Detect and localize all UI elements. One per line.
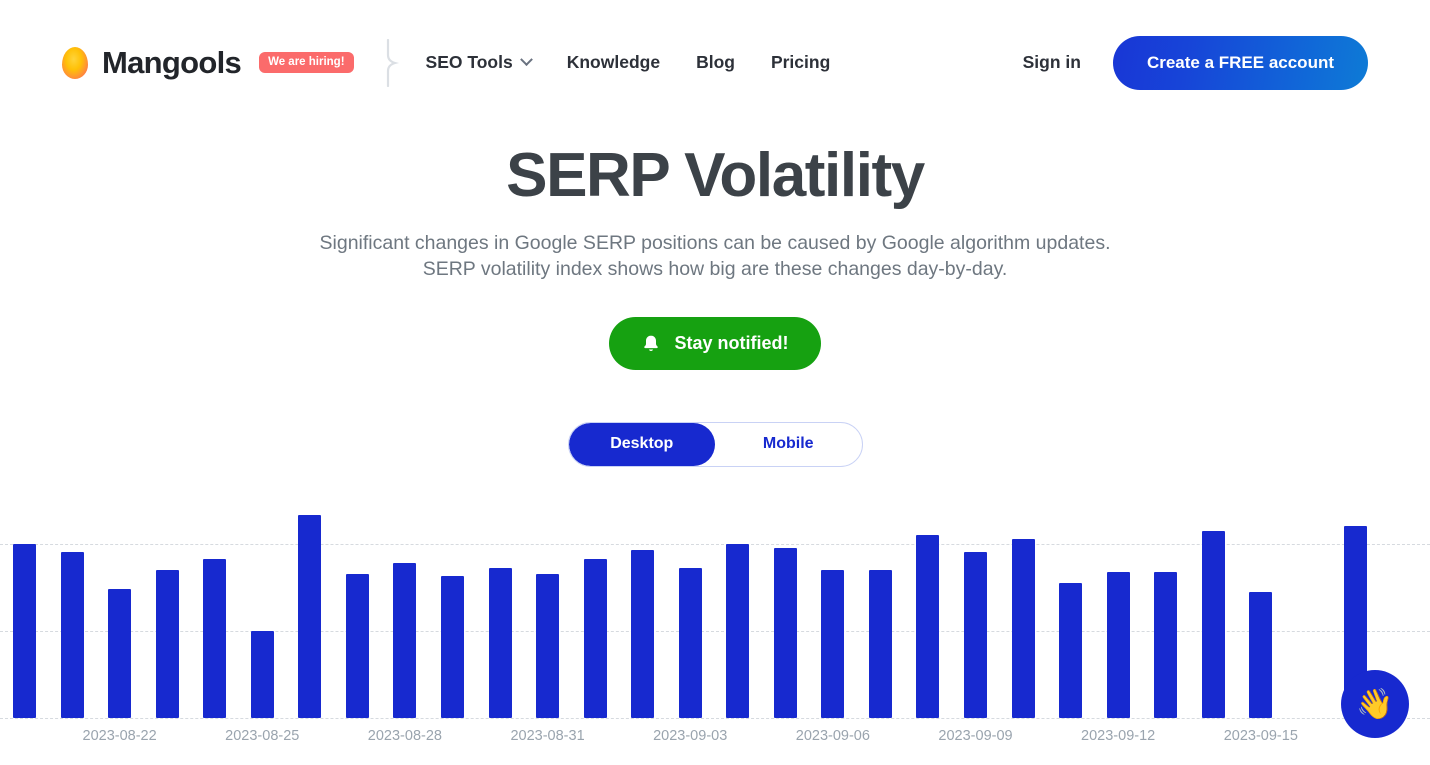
chart-x-tick-label: 2023-08-31 xyxy=(510,728,584,744)
chart-bar[interactable] xyxy=(298,515,321,718)
chart-bar[interactable] xyxy=(774,548,797,718)
header-actions: Sign in Create a FREE account xyxy=(1023,36,1368,90)
nav-label-blog: Blog xyxy=(696,52,735,73)
chart-bar[interactable] xyxy=(1202,531,1225,718)
serp-volatility-chart: 2023-08-222023-08-252023-08-282023-08-31… xyxy=(0,500,1430,765)
chart-bar[interactable] xyxy=(631,550,654,718)
nav-label-pricing: Pricing xyxy=(771,52,830,73)
chart-bar[interactable] xyxy=(251,631,274,718)
main-navigation: SEO Tools Knowledge Blog Pricing xyxy=(426,52,831,73)
chart-x-tick-label: 2023-09-06 xyxy=(796,728,870,744)
chart-bar[interactable] xyxy=(964,552,987,718)
hero-section: SERP Volatility Significant changes in G… xyxy=(0,143,1430,467)
chart-bar[interactable] xyxy=(441,576,464,718)
chart-x-tick-label: 2023-08-28 xyxy=(368,728,442,744)
chart-bar[interactable] xyxy=(108,589,131,718)
brand-logo[interactable]: Mangools We are hiring! xyxy=(62,45,354,81)
chart-x-tick-label: 2023-09-15 xyxy=(1224,728,1298,744)
nav-item-knowledge[interactable]: Knowledge xyxy=(567,52,660,73)
chart-bar[interactable] xyxy=(489,568,512,718)
page-title: SERP Volatility xyxy=(0,143,1430,208)
chart-bar[interactable] xyxy=(1249,592,1272,718)
chart-bar[interactable] xyxy=(1059,583,1082,718)
header-divider xyxy=(384,39,400,87)
chevron-down-icon xyxy=(520,53,533,66)
chat-widget-waving-hand-icon[interactable]: 👋 xyxy=(1341,670,1409,738)
bell-icon xyxy=(641,333,661,354)
chart-bar[interactable] xyxy=(61,552,84,718)
chart-x-tick-label: 2023-09-09 xyxy=(938,728,1012,744)
brand-name: Mangools xyxy=(102,45,241,81)
chart-bar[interactable] xyxy=(679,568,702,718)
chart-bar[interactable] xyxy=(346,574,369,718)
mangools-egg-logo-icon xyxy=(62,47,88,79)
chart-bar[interactable] xyxy=(1107,572,1130,718)
chart-bar[interactable] xyxy=(13,544,36,718)
nav-item-pricing[interactable]: Pricing xyxy=(771,52,830,73)
chart-bar[interactable] xyxy=(821,570,844,718)
chart-bar[interactable] xyxy=(393,563,416,718)
chart-bar[interactable] xyxy=(869,570,892,718)
chart-bar[interactable] xyxy=(1012,539,1035,718)
chart-x-tick-label: 2023-09-03 xyxy=(653,728,727,744)
chart-bar[interactable] xyxy=(536,574,559,718)
chart-bar[interactable] xyxy=(1154,572,1177,718)
chart-baseline xyxy=(0,718,1430,719)
chart-bar[interactable] xyxy=(726,544,749,718)
chart-bar[interactable] xyxy=(916,535,939,718)
chart-x-axis: 2023-08-222023-08-252023-08-282023-08-31… xyxy=(0,728,1430,758)
notify-button-wrap: Stay notified! xyxy=(0,317,1430,370)
page-subtitle: Significant changes in Google SERP posit… xyxy=(300,230,1130,283)
site-header: Mangools We are hiring! SEO Tools Knowle… xyxy=(0,0,1430,125)
stay-notified-label: Stay notified! xyxy=(674,333,788,354)
toggle-option-desktop[interactable]: Desktop xyxy=(569,423,716,466)
chart-plot-area xyxy=(0,500,1430,718)
sign-in-link[interactable]: Sign in xyxy=(1023,52,1081,73)
stay-notified-button[interactable]: Stay notified! xyxy=(609,317,820,370)
device-toggle: Desktop Mobile xyxy=(568,422,863,467)
chart-bar[interactable] xyxy=(203,559,226,718)
nav-label-seo-tools: SEO Tools xyxy=(426,52,513,73)
hiring-badge[interactable]: We are hiring! xyxy=(259,52,353,73)
chart-bar[interactable] xyxy=(584,559,607,718)
nav-label-knowledge: Knowledge xyxy=(567,52,660,73)
nav-item-blog[interactable]: Blog xyxy=(696,52,735,73)
chart-x-tick-label: 2023-08-22 xyxy=(83,728,157,744)
create-account-button[interactable]: Create a FREE account xyxy=(1113,36,1368,90)
toggle-option-mobile[interactable]: Mobile xyxy=(715,423,862,466)
nav-item-seo-tools[interactable]: SEO Tools xyxy=(426,52,531,73)
chart-x-tick-label: 2023-08-25 xyxy=(225,728,299,744)
chart-x-tick-label: 2023-09-12 xyxy=(1081,728,1155,744)
chart-bar[interactable] xyxy=(156,570,179,718)
